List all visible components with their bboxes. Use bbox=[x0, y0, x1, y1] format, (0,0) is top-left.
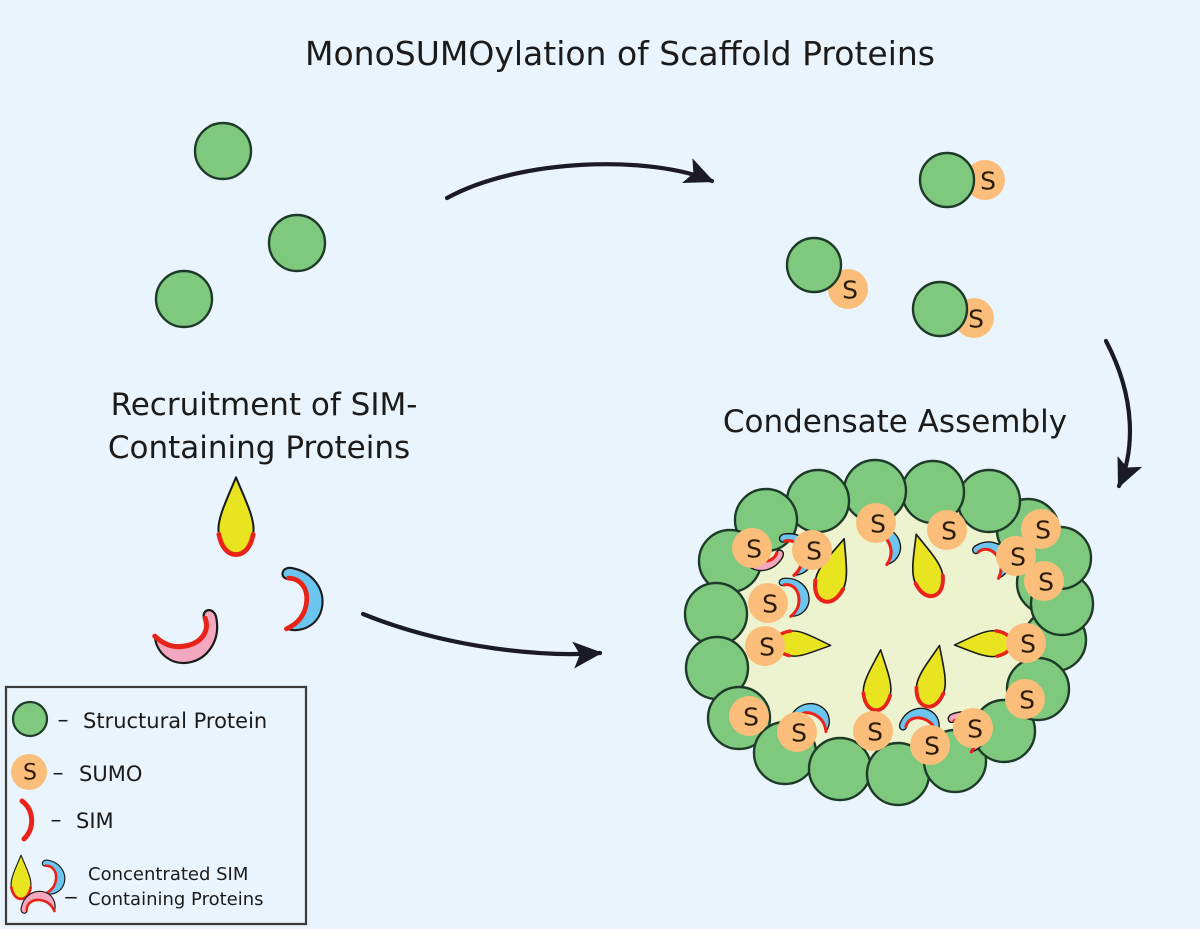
legend-label: SUMO bbox=[79, 762, 142, 786]
structural-protein bbox=[920, 153, 974, 207]
sumo-letter: S bbox=[980, 167, 996, 196]
legend-label: Structural Protein bbox=[83, 709, 267, 733]
sumo-badge: S bbox=[777, 712, 817, 752]
sumo-badge: S bbox=[792, 530, 832, 570]
sumo-badge: S bbox=[853, 711, 893, 751]
legend-dash: _ bbox=[65, 874, 78, 899]
structural-protein bbox=[685, 583, 747, 645]
sumo-letter: S bbox=[743, 703, 759, 732]
condensate-label: Condensate Assembly bbox=[723, 404, 1067, 440]
sumo-letter: S bbox=[924, 732, 940, 761]
sumo-letter: S bbox=[746, 535, 762, 564]
sumo-letter: S bbox=[867, 718, 883, 747]
sumo-badge: S bbox=[927, 510, 967, 550]
structural-protein bbox=[958, 470, 1020, 532]
sumo-letter: S bbox=[759, 633, 775, 662]
structural-protein bbox=[787, 238, 841, 292]
sumo-badge: S bbox=[745, 626, 785, 666]
sumo-badge: S bbox=[729, 696, 769, 736]
figure-svg: MonoSUMOylation of Scaffold Proteins S S bbox=[0, 0, 1200, 929]
sumo-letter: S bbox=[762, 590, 778, 619]
sumo-letter: S bbox=[870, 510, 886, 539]
structural-protein bbox=[269, 215, 325, 271]
green-circle-icon bbox=[13, 702, 47, 736]
recruitment-label-line1: Recruitment of SIM- bbox=[111, 387, 418, 423]
sumo-letter: S bbox=[968, 305, 984, 334]
sumo-letter: S bbox=[1038, 568, 1054, 597]
legend-label-line2: Containing Proteins bbox=[88, 889, 264, 910]
sumo-badge: S bbox=[748, 583, 788, 623]
legend-label: Concentrated SIM bbox=[88, 864, 248, 885]
sumo-letter: S bbox=[806, 537, 822, 566]
sumo-letter: S bbox=[1020, 630, 1036, 659]
sumo-badge: S bbox=[1006, 623, 1046, 663]
structural-protein bbox=[156, 271, 212, 327]
legend-dash: – bbox=[51, 808, 62, 833]
sumo-badge: S bbox=[1005, 679, 1045, 719]
legend-dash: – bbox=[58, 708, 69, 733]
sumo-letter: S bbox=[1019, 686, 1035, 715]
sumo-letter: S bbox=[1010, 543, 1026, 572]
sumo-letter: S bbox=[842, 276, 858, 305]
legend: – Structural Protein S – SUMO – SIM bbox=[6, 687, 306, 924]
sumo-letter: S bbox=[1035, 516, 1051, 545]
sumo-badge: S bbox=[953, 708, 993, 748]
legend-dash: – bbox=[53, 761, 64, 786]
sumo-badge: S bbox=[910, 725, 950, 765]
legend-label: SIM bbox=[76, 809, 114, 833]
sumo-badge: S bbox=[732, 528, 772, 568]
figure-canvas: MonoSUMOylation of Scaffold Proteins S S bbox=[0, 0, 1200, 929]
sumo-letter: S bbox=[967, 715, 983, 744]
sumo-letter: S bbox=[791, 719, 807, 748]
sumo-badge: S bbox=[856, 503, 896, 543]
sumo-badge: S bbox=[1024, 561, 1064, 601]
recruitment-label-line2: Containing Proteins bbox=[108, 430, 410, 466]
structural-protein bbox=[195, 123, 251, 179]
sumo-letter: S bbox=[23, 761, 37, 786]
figure-title: MonoSUMOylation of Scaffold Proteins bbox=[305, 34, 935, 73]
structural-protein bbox=[913, 282, 967, 336]
sumo-letter: S bbox=[941, 517, 957, 546]
